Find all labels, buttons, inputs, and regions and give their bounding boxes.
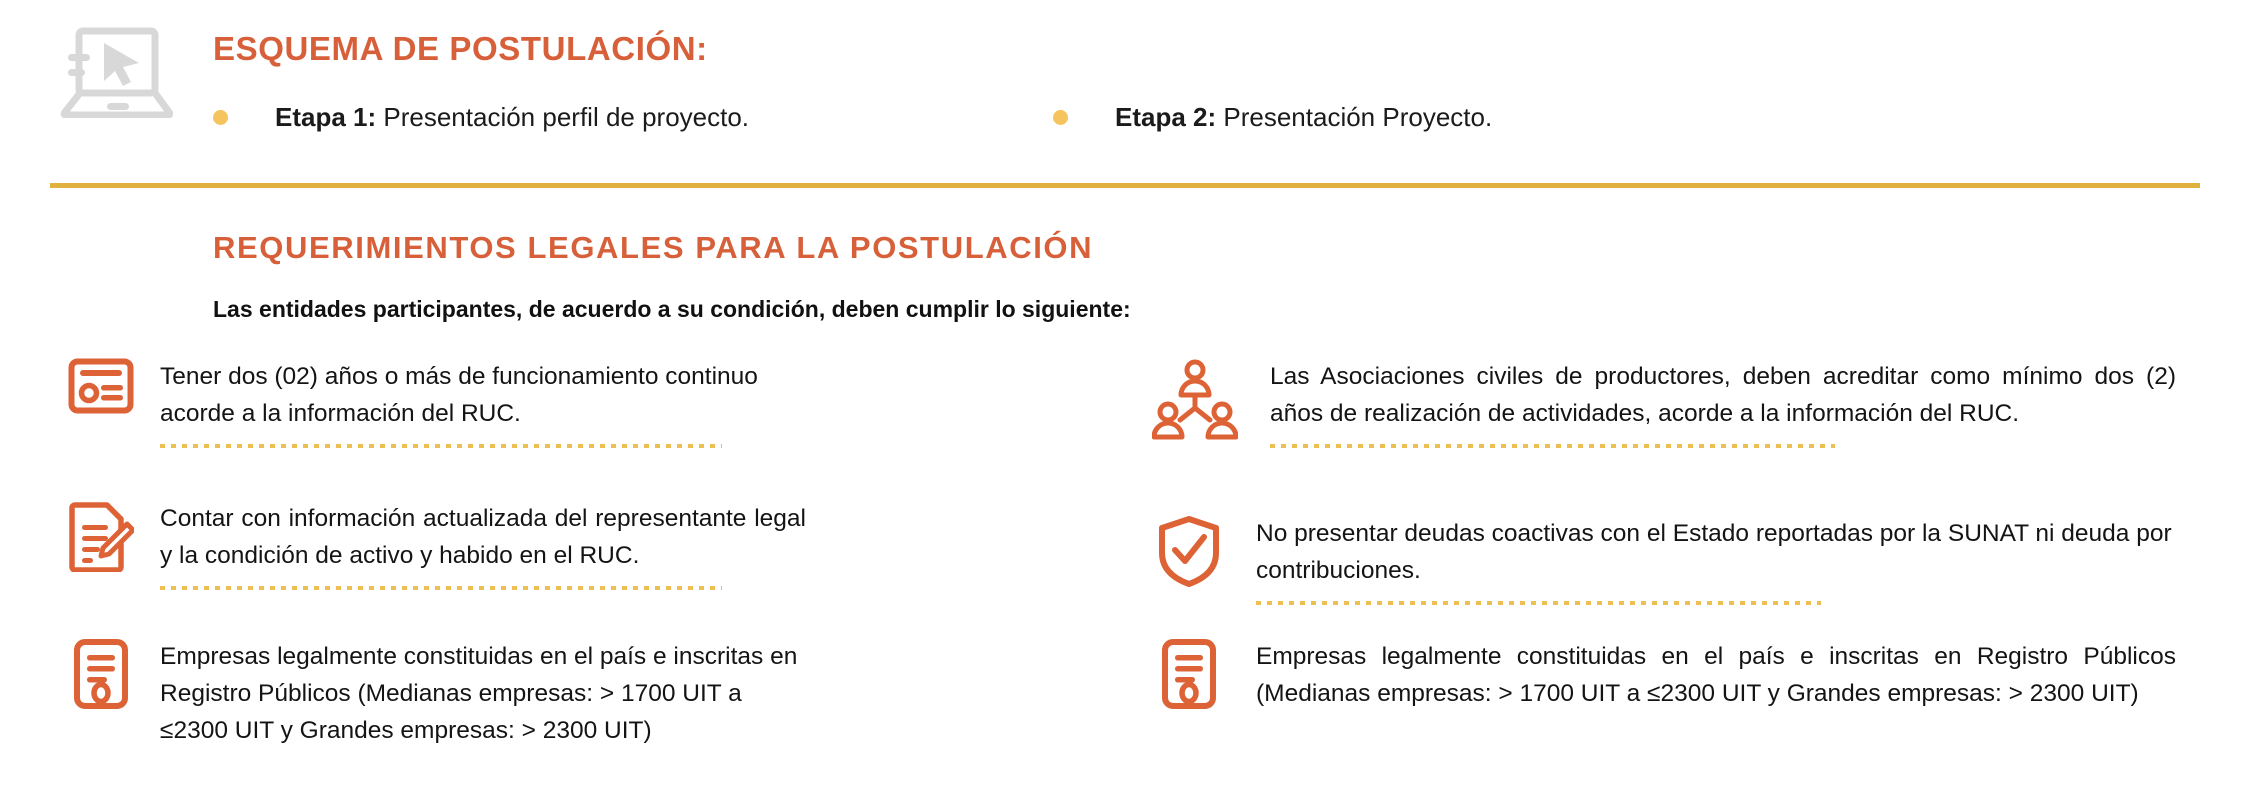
scheme-header: ESQUEMA DE POSTULACIÓN: Etapa 1: Present… [0,0,2248,186]
requirement-body: Empresas legalmente constituidas en el p… [1226,638,2176,712]
horizontal-divider [50,183,2200,188]
dotted-separator [1270,444,1835,448]
stage-1-text: Etapa 1: Presentación perfil de proyecto… [275,104,749,130]
section-title: REQUERIMIENTOS LEGALES PARA LA POSTULACI… [213,230,1093,266]
dotted-separator [160,586,722,590]
requirement-body: Contar con información actualizada del r… [138,500,806,590]
requirement-body: Las Asociaciones civiles de productores,… [1238,358,2176,448]
requirement-item: Las Asociaciones civiles de productores,… [1152,358,2176,448]
id-card-icon [64,358,138,436]
stage-item-1: Etapa 1: Presentación perfil de proyecto… [213,104,749,130]
dotted-separator [1256,601,1821,605]
registry-document-icon [64,638,138,716]
shield-check-icon [1152,515,1226,593]
requirement-text: Contar con información actualizada del r… [160,500,806,574]
requirement-text: Las Asociaciones civiles de productores,… [1270,358,2176,432]
requirement-item: Tener dos (02) años o más de funcionamie… [64,358,806,448]
requirement-item: Contar con información actualizada del r… [64,500,806,590]
people-group-icon [1152,358,1238,444]
requirement-body: Empresas legalmente constituidas en el p… [138,638,806,749]
bullet-icon [1053,110,1068,125]
requirement-text: Tener dos (02) años o más de funcionamie… [160,358,806,432]
page-title: ESQUEMA DE POSTULACIÓN: [213,30,708,68]
requirement-item: No presentar deudas coactivas con el Est… [1152,515,2176,605]
stage-1-label: Etapa 1: [275,102,376,132]
stage-item-2: Etapa 2: Presentación Proyecto. [1053,104,1492,130]
requirement-body: Tener dos (02) años o más de funcionamie… [138,358,806,448]
document-pencil-icon [64,500,138,578]
requirement-text: Empresas legalmente constituidas en el p… [1256,638,2176,712]
bullet-icon [213,110,228,125]
registry-document-icon [1152,638,1226,716]
stage-2-text: Etapa 2: Presentación Proyecto. [1115,104,1492,130]
stage-1-desc: Presentación perfil de proyecto. [376,102,749,132]
stage-2-label: Etapa 2: [1115,102,1216,132]
section-subtitle: Las entidades participantes, de acuerdo … [213,296,1131,323]
requirement-text: Empresas legalmente constituidas en el p… [160,638,806,749]
requirement-body: No presentar deudas coactivas con el Est… [1226,515,2176,605]
requirement-text: No presentar deudas coactivas con el Est… [1256,515,2176,589]
requirement-item: Empresas legalmente constituidas en el p… [64,638,806,749]
stage-2-desc: Presentación Proyecto. [1216,102,1492,132]
requirement-item: Empresas legalmente constituidas en el p… [1152,638,2176,716]
laptop-cursor-icon [47,26,173,118]
dotted-separator [160,444,722,448]
